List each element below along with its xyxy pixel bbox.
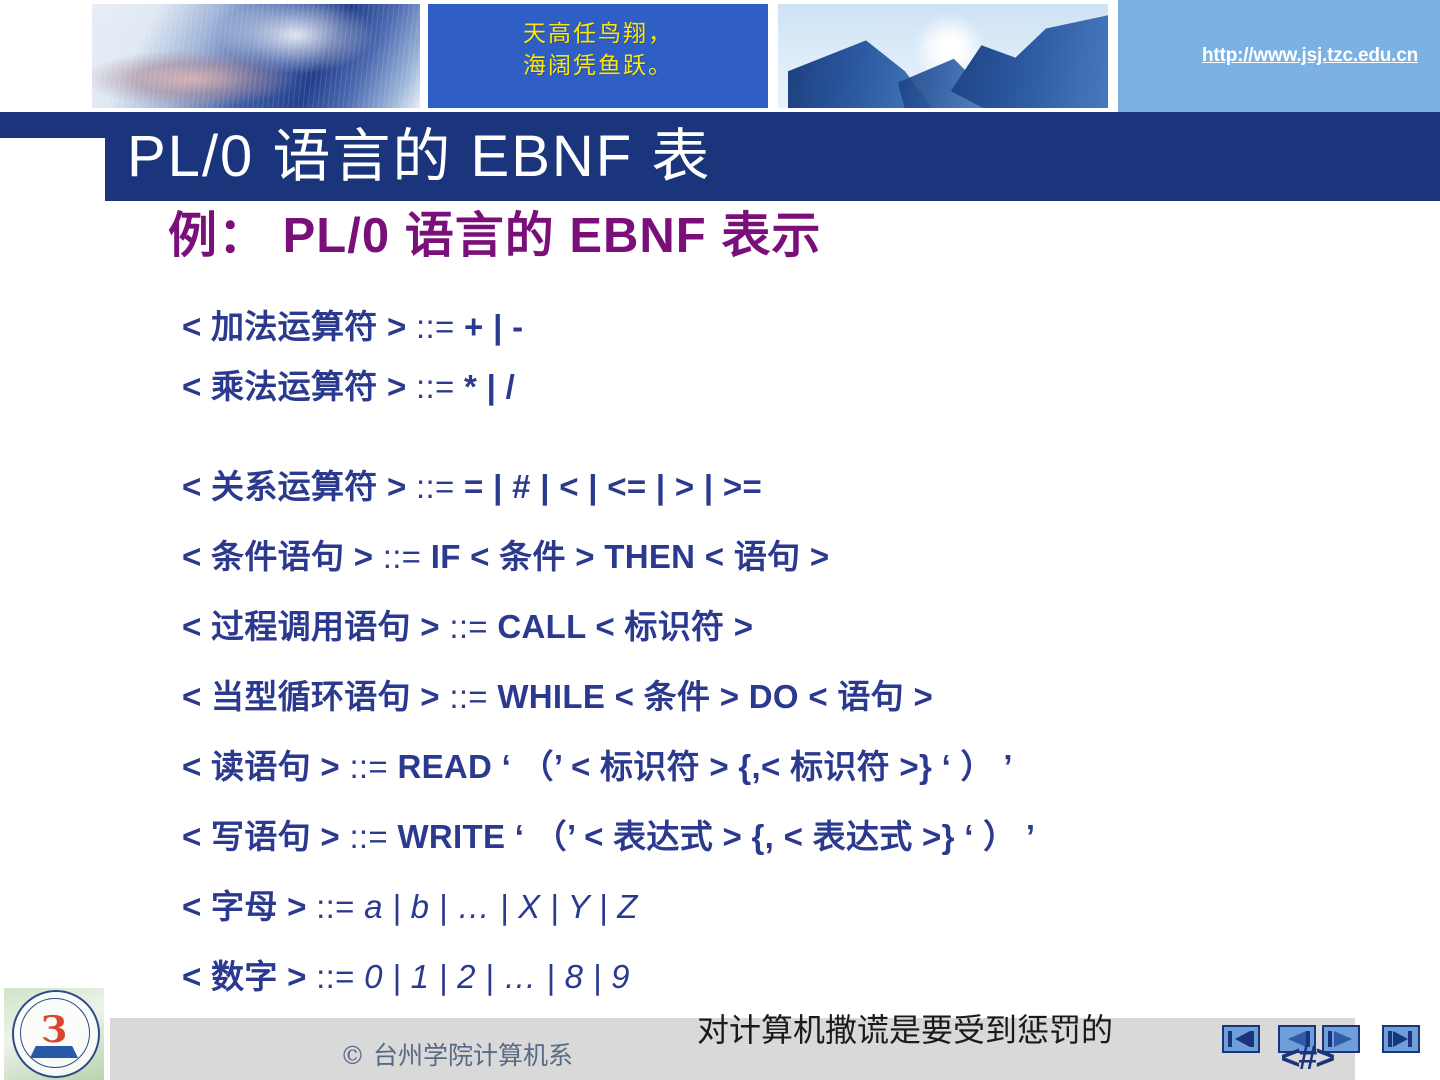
rule-read-statement: < 读语句 > ::= READ ‘ （’ < 标识符 > {,< 标识符 >}… xyxy=(182,740,1362,788)
rule-lhs: < 读语句 > xyxy=(182,748,340,785)
rule-rhs: IF < 条件 > THEN < 语句 > xyxy=(431,538,830,575)
quote-line-1: 天高任鸟翔， xyxy=(428,4,768,50)
rule-spacer xyxy=(182,928,1362,950)
quote-panel: 天高任鸟翔， 海阔凭鱼跃。 xyxy=(428,4,768,108)
slide-navigation: <#> xyxy=(1222,1025,1432,1059)
website-url-link[interactable]: http://www.jsj.tzc.edu.cn xyxy=(1202,45,1418,67)
rule-op: ::= xyxy=(440,608,497,645)
building-right xyxy=(944,14,1108,108)
rule-lhs: < 当型循环语句 > xyxy=(182,678,440,715)
rule-op: ::= xyxy=(307,888,364,925)
page-title: PL/0 语言的 EBNF 表 xyxy=(127,126,1417,188)
rule-digit: < 数字 > ::= 0 | 1 | 2 | … | 8 | 9 xyxy=(182,950,1362,998)
rule-spacer xyxy=(182,788,1362,810)
url-panel: http://www.jsj.tzc.edu.cn xyxy=(1118,0,1440,112)
rule-op: ::= xyxy=(340,818,397,855)
rule-op: ::= xyxy=(407,468,464,505)
rule-spacer xyxy=(182,348,1362,360)
rule-spacer xyxy=(182,858,1362,880)
rule-lhs: < 数字 > xyxy=(182,958,307,995)
rule-op: ::= xyxy=(307,958,364,995)
rule-op: ::= xyxy=(407,368,464,405)
seal-base-shape xyxy=(30,1046,78,1058)
rule-rhs: READ ‘ （’ < 标识符 > {,< 标识符 >} ‘ ） ’ xyxy=(397,748,1012,785)
rule-letter: < 字母 > ::= a | b | … | X | Y | Z xyxy=(182,880,1362,928)
rule-write-statement: < 写语句 > ::= WRITE ‘ （’ < 表达式 > {, < 表达式 … xyxy=(182,810,1362,858)
rule-condition-statement: < 条件语句 > ::= IF < 条件 > THEN < 语句 > xyxy=(182,530,1362,578)
rule-rhs: + | - xyxy=(464,308,523,345)
rule-spacer xyxy=(182,648,1362,670)
rule-spacer-large xyxy=(182,408,1362,460)
rule-op: ::= xyxy=(373,538,430,575)
rule-rel-operator: < 关系运算符 > ::= = | # | < | <= | > | >= xyxy=(182,460,1362,508)
slide-subtitle: 例： PL/0 语言的 EBNF 表示 xyxy=(168,196,821,267)
rule-rhs: 0 | 1 | 2 | … | 8 | 9 xyxy=(364,958,630,995)
rule-rhs: WRITE ‘ （’ < 表达式 > {, < 表达式 >} ‘ ） ’ xyxy=(397,818,1035,855)
rule-spacer xyxy=(182,578,1362,600)
rule-spacer xyxy=(182,718,1362,740)
footer-copyright: © 台州学院计算机系 xyxy=(340,1036,573,1072)
rule-mul-operator: < 乘法运算符 > ::= * | / xyxy=(182,360,1362,408)
rule-lhs: < 关系运算符 > xyxy=(182,468,407,505)
rule-lhs: < 写语句 > xyxy=(182,818,340,855)
rule-lhs: < 过程调用语句 > xyxy=(182,608,440,645)
rule-while-statement: < 当型循环语句 > ::= WHILE < 条件 > DO < 语句 > xyxy=(182,670,1362,718)
seal-emblem-icon: З xyxy=(38,1010,70,1052)
motion-blur-streaks xyxy=(92,4,420,108)
rule-op: ::= xyxy=(340,748,397,785)
rule-lhs: < 条件语句 > xyxy=(182,538,373,575)
ebnf-rule-list: < 加法运算符 > ::= + | - < 乘法运算符 > ::= * | / … xyxy=(182,300,1362,998)
rule-spacer xyxy=(182,508,1362,530)
rule-rhs: * | / xyxy=(464,368,515,405)
skyscrapers-photo xyxy=(778,4,1108,108)
quote-line-2: 海阔凭鱼跃。 xyxy=(428,50,768,82)
university-logo: З xyxy=(4,988,104,1080)
rule-rhs: WHILE < 条件 > DO < 语句 > xyxy=(497,678,933,715)
first-slide-button[interactable] xyxy=(1222,1025,1260,1053)
rule-add-operator: < 加法运算符 > ::= + | - xyxy=(182,300,1362,348)
last-slide-button[interactable] xyxy=(1382,1025,1420,1053)
keyboard-photo xyxy=(92,4,420,108)
rule-rhs: CALL < 标识符 > xyxy=(497,608,753,645)
rule-lhs: < 加法运算符 > xyxy=(182,308,407,345)
rule-op: ::= xyxy=(407,308,464,345)
rule-lhs: < 乘法运算符 > xyxy=(182,368,407,405)
rule-call-statement: < 过程调用语句 > ::= CALL < 标识符 > xyxy=(182,600,1362,648)
rule-op: ::= xyxy=(440,678,497,715)
slide-number-placeholder: <#> xyxy=(1280,1039,1333,1078)
rule-rhs: = | # | < | <= | > | >= xyxy=(464,468,762,505)
header-banner: 天高任鸟翔， 海阔凭鱼跃。 http://www.jsj.tzc.edu.cn xyxy=(0,0,1440,112)
rule-lhs: < 字母 > xyxy=(182,888,307,925)
rule-rhs: a | b | … | X | Y | Z xyxy=(364,888,638,925)
footer-note: 对计算机撒谎是要受到惩罚的 xyxy=(697,1010,1167,1050)
